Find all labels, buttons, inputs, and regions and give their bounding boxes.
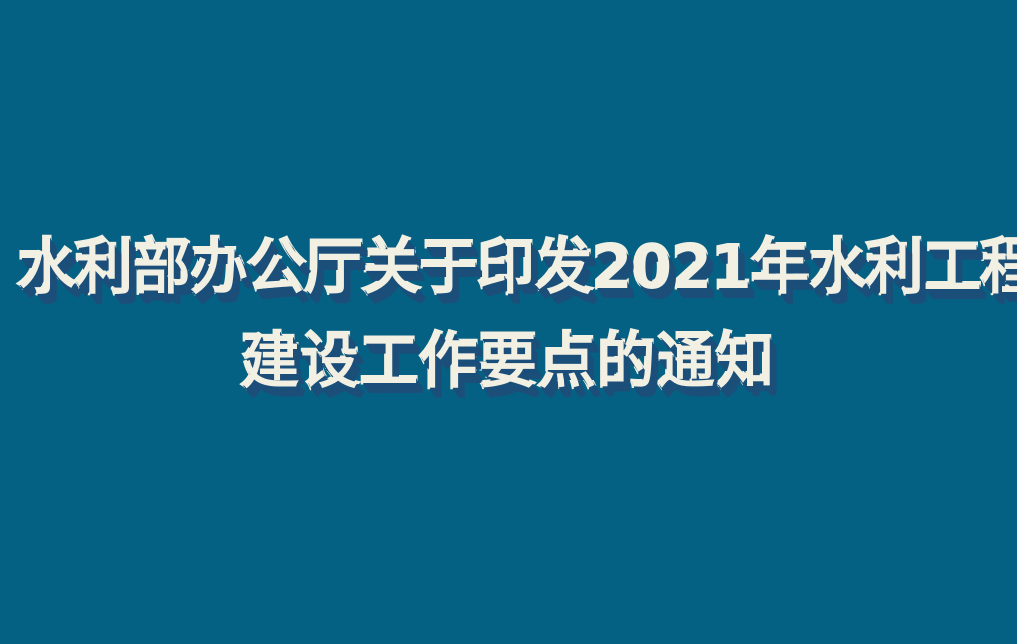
banner-title-line-2: 建设工作要点的通知 [18,315,999,409]
banner-title-line-1: 水利部办公厅关于印发2021年水利工程 [18,221,999,315]
banner-title-block: 水利部办公厅关于印发2021年水利工程 建设工作要点的通知 [0,221,1017,409]
title-banner: 水利部办公厅关于印发2021年水利工程 建设工作要点的通知 [0,0,1017,644]
